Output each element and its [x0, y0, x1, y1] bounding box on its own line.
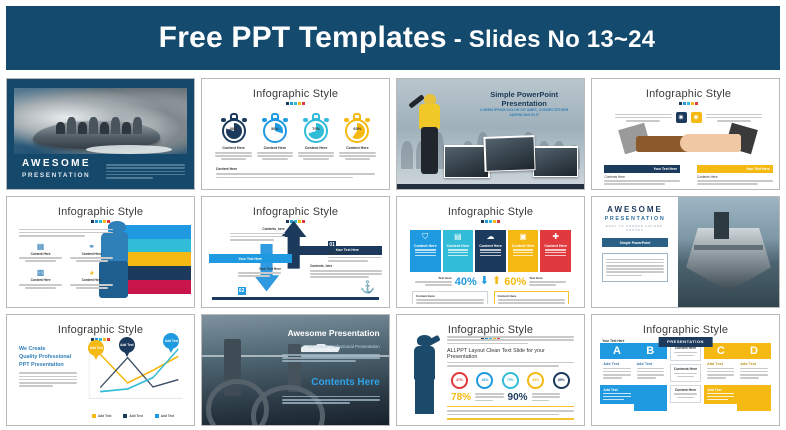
feature-label: Content Here [19, 252, 62, 256]
stopwatch-label: Content Here [339, 146, 375, 150]
title-dots [205, 102, 386, 105]
slide-thumbnail-grid: AWESOME PRESENTATION Infographic Style [6, 78, 780, 426]
block-bottom-left: Your Text Here 02 [238, 267, 281, 297]
slide-17-title: Infographic Style [10, 206, 191, 218]
note-head: Content Here [498, 294, 566, 298]
title-dots [205, 220, 386, 223]
donut-value: 89% [558, 378, 565, 382]
slide-20-left-panel: AWESOME PRESENTATION EASY TO CHANGE COLO… [592, 197, 678, 307]
donut-value: 43% [482, 378, 489, 382]
slide-thumbnail-20[interactable]: AWESOME PRESENTATION EASY TO CHANGE COLO… [591, 196, 780, 308]
card-label: Content Here [542, 244, 569, 248]
arrow-down-icon: ⬇ [480, 276, 489, 287]
center-box: Content Here [670, 385, 701, 403]
column-letter-a: A [600, 343, 633, 359]
column-item-head: Add Text [740, 362, 767, 366]
badge-02: 02 [238, 287, 246, 295]
stat-desc [475, 392, 503, 403]
slide-13-body-lines [106, 163, 185, 181]
left-desc [615, 112, 672, 123]
shield-icon: ⛉ [412, 233, 439, 242]
column-b-body: Add Text [634, 359, 667, 379]
page-title-main: Free PPT Templates [159, 21, 447, 54]
slide-thumbnail-14[interactable]: Infographic Style 80% Content Here [201, 78, 390, 190]
donut-chart: 89% [553, 372, 570, 389]
card-label: Content Here [445, 244, 472, 248]
slide-18-content: Infographic Style Your Text Here Your Te… [205, 200, 386, 304]
stat-label: Text Here [415, 276, 451, 280]
slide-23-content: Infographic Style ALLPPT Layout Clean Te… [400, 318, 581, 422]
stopwatch-label: Content Here [298, 146, 334, 150]
stopwatch-row: 80% Content Here 30% Content Here [205, 113, 386, 162]
donut-chart: 47% [451, 372, 468, 389]
info-card[interactable]: ⛉ Content Here [410, 230, 441, 272]
briefcase-icon: ▣ [510, 233, 537, 242]
slide-21-content: Infographic Style We Create Quality Prof… [10, 318, 191, 422]
bar-block[interactable]: Your Text Here Contents Here [604, 165, 680, 186]
blue-bar-label: Your Text Here [238, 257, 262, 261]
stat-value-90: 90% [508, 392, 528, 403]
photo-frame [484, 135, 536, 172]
slide-23-footer-lines [447, 410, 574, 415]
block-top-right: 01 Your Text Here [328, 233, 382, 263]
column-c-body: Add Text [704, 359, 737, 379]
column-a-body: Add Text [600, 359, 633, 379]
bar-label-navy: Your Text Here [604, 165, 680, 173]
carrier-hull [686, 228, 771, 292]
slide-22-body-lines-2 [282, 394, 379, 405]
column-letter-d: D [737, 343, 770, 359]
center-boxes: Content Here Contents Here Content Here [667, 343, 704, 418]
slide-thumbnail-21[interactable]: Infographic Style We Create Quality Prof… [6, 314, 195, 426]
card-label: Content Here [510, 244, 537, 248]
slide-22-body-lines [282, 352, 379, 363]
badge-01: 01 [328, 241, 336, 249]
legend-label: Add Text [161, 414, 174, 418]
chart-pin: Add Text [163, 333, 179, 353]
medical-icon: ✚ [542, 233, 569, 242]
footer-label: Content Here [216, 167, 375, 171]
slide-20-body-box [602, 253, 668, 282]
stat-value-40: 40% [455, 276, 477, 288]
stat-value-60: 60% [504, 276, 526, 288]
block-head: Your Text Here [238, 267, 281, 271]
slide-20-subtitle: PRESENTATION [598, 216, 672, 222]
boat-wake [86, 145, 172, 154]
slide-17-left-column: ▦Content Here ⚭Content Here ▩Content Her… [19, 227, 113, 290]
slide-21-desc-lines [19, 372, 77, 386]
stat-label: Text Here [529, 276, 565, 280]
donut-value: 47% [456, 378, 463, 382]
cloud-icon: ☁ [477, 233, 504, 242]
slide-20-bar: Simple PowerPoint [602, 238, 668, 247]
page-title: Free PPT Templates - Slides No 13~24 [131, 3, 655, 73]
baseline-rule [212, 297, 379, 300]
slide-thumbnail-13[interactable]: AWESOME PRESENTATION [6, 78, 195, 190]
note-box: Content Here [494, 291, 570, 304]
column-c[interactable]: C Add Text Add Text [704, 343, 737, 418]
donut-row: 47% 43% 75% 55% 89% [447, 372, 574, 389]
qr-icon: ▩ [36, 268, 46, 278]
building-icon: ▤ [445, 233, 472, 242]
block-head: Your Text Here [328, 251, 382, 255]
slide-23-right-column: ALLPPT Layout Clean Text Slide for your … [447, 324, 574, 418]
bar-block[interactable]: Your Text Here Contents Here [697, 165, 773, 186]
stopwatch-icon: 80% [221, 113, 247, 143]
feature-label: Content Here [70, 252, 113, 256]
stopwatch-item[interactable]: 30% Content Here [257, 113, 293, 162]
stopwatch-desc-lines [298, 152, 334, 160]
stat-desc-right: Text Here [529, 276, 565, 288]
legend-item: Add Text [92, 414, 111, 418]
presentation-badge[interactable]: PRESENTATION [658, 337, 713, 347]
photo-frame [444, 145, 490, 178]
page-title-sub: Slides No 13~24 [469, 26, 655, 53]
info-card[interactable]: ▣ Content Here [508, 230, 539, 272]
slide-14-title: Infographic Style [205, 88, 386, 100]
stat-desc-left: Text Here [415, 276, 451, 288]
slide-13-background: AWESOME PRESENTATION [7, 79, 194, 189]
legend-item: Add Text [123, 414, 142, 418]
feature-icon-grid: ▦Content Here ⚭Content Here ▩Content Her… [19, 242, 113, 291]
signalman-figure [416, 94, 444, 175]
center-box-head: Content Here [674, 388, 697, 392]
feature-label: Content Here [70, 278, 113, 282]
bar-label-text: Your Text Here [653, 167, 677, 171]
slide-thumbnail-18[interactable]: Infographic Style Your Text Here Your Te… [201, 196, 390, 308]
column-c-footer: Add Text [704, 385, 737, 405]
column-footer-head: Add Text [603, 388, 630, 392]
info-card[interactable]: ✚ Content Here [540, 230, 571, 272]
photo-frame [533, 146, 579, 177]
bar-label-text: Simple PowerPoint [620, 241, 651, 245]
donut-chart: 75% [502, 372, 519, 389]
slide-22-subtitle: We Create Professional Presentation [307, 344, 379, 349]
bar-sub: Contents Here [697, 175, 773, 179]
stopwatch-label: Content Here [257, 146, 293, 150]
chart-pin: Add Text [119, 337, 135, 357]
slide-thumbnail-23[interactable]: Infographic Style ALLPPT Layout Clean Te… [396, 314, 585, 426]
slide-thumbnail-22[interactable]: Awesome Presentation We Create Professio… [201, 314, 390, 426]
stopwatch-percent: 70% [303, 126, 329, 131]
boat-crew-figures [56, 116, 142, 134]
stopwatch-desc-lines [257, 152, 293, 160]
slide-22-contents-label: Contents Here [311, 377, 379, 388]
slide-24-title: Infographic Style [595, 324, 776, 336]
info-card[interactable]: ▤ Content Here [443, 230, 474, 272]
slide-21-heading: We Create Quality Professional PPT Prese… [19, 345, 77, 369]
stopwatch-item[interactable]: 70% Content Here [298, 113, 334, 162]
yellow-divider [447, 418, 574, 420]
page-header-banner: Free PPT Templates - Slides No 13~24 [6, 6, 780, 70]
stat-desc [532, 392, 560, 403]
slide-16-content: Infographic Style ✷ ✷ Your Text Here C [595, 82, 780, 190]
slide-23-intro-lines [447, 336, 574, 344]
gear-icon: ✷ [691, 112, 702, 123]
stat-value-78: 78% [451, 392, 471, 403]
block-top-left: Contents_here [230, 227, 284, 242]
chart-legend: Add Text Add Text Add Text [86, 414, 180, 418]
slide-23-subdesc-lines [447, 362, 574, 367]
block-bottom-right: Contents_here [310, 264, 382, 279]
gear-icon: ✷ [676, 112, 687, 123]
card-row: ⛉ Content Here ▤ Content Here ☁ Content … [400, 230, 581, 272]
info-card[interactable]: ☁ Content Here [475, 230, 506, 272]
column-item-head: Add Text [603, 362, 630, 366]
stopwatch-percent: 60% [344, 126, 370, 131]
card-label: Content Here [477, 244, 504, 248]
slide-13-title: AWESOME [22, 158, 91, 169]
anchor-icon: ⚓ [360, 280, 375, 294]
bar-label-text: Your Text Here [746, 167, 770, 171]
calendar-icon: ▦ [36, 242, 46, 252]
column-item-head: Add Text [707, 362, 734, 366]
donut-chart: 55% [527, 372, 544, 389]
handshake-illustration [636, 126, 741, 163]
donut-chart: 43% [476, 372, 493, 389]
ppt-template-gallery: Free PPT Templates - Slides No 13~24 AWE… [0, 0, 786, 430]
slide-20-tagline: EASY TO CHANGE COLORS, PHOTOS [598, 224, 672, 232]
center-box: Contents Here [670, 364, 701, 382]
slide-14-footer: Content Here [216, 167, 375, 179]
card-label: Content Here [412, 244, 439, 248]
page-title-separator: - [447, 26, 469, 53]
feature-item[interactable]: ⚭Content Here [70, 242, 113, 264]
slide-19-title: Infographic Style [400, 206, 581, 218]
photo-frame-group [444, 134, 579, 178]
column-b[interactable]: B Add Text [634, 343, 667, 418]
carrier-tower [714, 212, 728, 238]
bottom-bar [397, 184, 584, 190]
notes-row: Content Here Content Here [400, 288, 581, 304]
right-desc [706, 112, 763, 123]
slide-thumbnail-16[interactable]: Infographic Style ✷ ✷ Your Text Here C [591, 78, 780, 190]
stopwatch-item[interactable]: 80% Content Here [215, 113, 251, 162]
slide-15-background: Simple PowerPoint Presentation LOREM IPS… [397, 79, 584, 189]
slide-23-stats-row: 78% 90% [447, 392, 574, 403]
aircraft-carrier-photo [678, 197, 779, 307]
link-icon: ⚭ [87, 242, 97, 252]
slide-17-content: Infographic Style ▦Content Here ⚭Content… [10, 200, 191, 304]
legend-label: Add Text [129, 414, 142, 418]
slide-21-left-column: We Create Quality Professional PPT Prese… [19, 345, 77, 388]
feature-item[interactable]: ◕Content Here [70, 268, 113, 290]
note-box: Content Here [412, 291, 488, 304]
feature-label: Content Here [19, 278, 62, 282]
stopwatch-icon: 70% [303, 113, 329, 143]
column-item-head: Add Text [637, 362, 664, 366]
stopwatch-percent: 30% [262, 126, 288, 131]
slide-22-title: Awesome Presentation [288, 328, 380, 338]
slide-13-subtitle: PRESENTATION [22, 172, 90, 179]
slide-20-title: AWESOME [598, 205, 672, 214]
slide-thumbnail-19[interactable]: Infographic Style ⛉ Content Here ▤ Conte… [396, 196, 585, 308]
feature-item[interactable]: ▦Content Here [19, 242, 62, 264]
carrier-deck [694, 245, 763, 249]
legend-label: Add Text [98, 414, 111, 418]
donut-value: 55% [532, 378, 539, 382]
slide-thumbnail-15[interactable]: Simple PowerPoint Presentation LOREM IPS… [396, 78, 585, 190]
slide-22-background: Awesome Presentation We Create Professio… [202, 315, 389, 425]
legend-item: Add Text [155, 414, 174, 418]
title-dots [400, 220, 581, 223]
stats-row: Text Here 40% ⬇ ⬆ 60% Text Here [400, 276, 581, 288]
chart-pin: Add Text [88, 340, 104, 360]
title-dots [595, 102, 780, 105]
slide-18-title: Infographic Style [205, 206, 386, 218]
saluting-soldier-silhouette [409, 335, 442, 414]
feature-item[interactable]: ▩Content Here [19, 268, 62, 290]
stopwatch-percent: 80% [221, 126, 247, 131]
column-d-body: Add Text [737, 359, 770, 379]
slide-19-content: Infographic Style ⛉ Content Here ▤ Conte… [400, 200, 581, 304]
arrow-up-icon: ⬆ [492, 276, 501, 287]
slide-15-title-line1: Simple PowerPoint [490, 90, 558, 99]
bar-sub: Contents Here [604, 175, 680, 179]
block-head: Contents_here [310, 264, 382, 268]
stopwatch-desc-lines [215, 152, 251, 160]
yellow-divider [447, 406, 574, 408]
slide-16-title: Infographic Style [595, 88, 780, 100]
stopwatch-desc-lines [339, 152, 375, 160]
line-chart: Add Text Add Text Add Text [82, 341, 183, 408]
stopwatch-icon: 60% [344, 113, 370, 143]
stopwatch-label: Content Here [215, 146, 251, 150]
handshake-bars: Your Text Here Contents Here Your Text H… [604, 165, 772, 186]
stopwatch-item[interactable]: 60% Content Here [339, 113, 375, 162]
donut-value: 75% [507, 378, 514, 382]
column-a-footer: Add Text [600, 385, 633, 405]
column-d[interactable]: D Add Text [737, 343, 770, 418]
column-a[interactable]: A Add Text Add Text [600, 343, 633, 418]
slide-15-title: Simple PowerPoint Presentation [476, 90, 573, 108]
column-footer-head: Add Text [707, 388, 734, 392]
abcd-columns: A Add Text Add Text B [600, 343, 770, 418]
center-box-head: Contents Here [674, 367, 697, 371]
slide-15-subtitle: LOREM IPSUM DOLOR SIT AMET, CONSECTETUER… [476, 108, 573, 119]
slide-14-content: Infographic Style 80% Content Here [205, 82, 386, 186]
slide-thumbnail-17[interactable]: Infographic Style ▦Content Here ⚭Content… [6, 196, 195, 308]
slide-24-content: Infographic Style Your Text Here PRESENT… [595, 318, 776, 422]
bar-label-yellow: Your Text Here [697, 165, 773, 173]
blue-text-bar[interactable]: Your Text Here [209, 254, 292, 263]
pie-chart-icon: ◕ [87, 268, 97, 278]
handshake-text-row: ✷ ✷ [595, 112, 780, 123]
block-head: Contents_here [230, 227, 284, 231]
slide-thumbnail-24[interactable]: Infographic Style Your Text Here PRESENT… [591, 314, 780, 426]
stopwatch-icon: 30% [262, 113, 288, 143]
note-head: Content Here [416, 294, 484, 298]
slide-23-subheading: ALLPPT Layout Clean Text Slide for your … [447, 348, 574, 360]
